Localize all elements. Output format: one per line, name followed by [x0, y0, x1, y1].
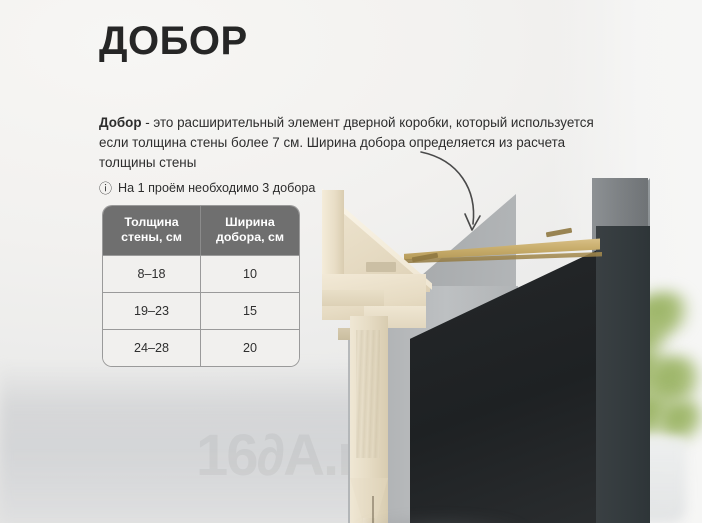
cell-thickness: 8–18: [103, 255, 201, 292]
table-head: Толщина стены, см Ширина добора, см: [103, 206, 299, 255]
cell-width: 10: [201, 255, 299, 292]
note-text: На 1 проём необходимо 3 добора: [118, 179, 315, 197]
dobor-groove-right: [546, 228, 572, 238]
door-casing-step-upper: [322, 290, 384, 306]
cell-thickness: 24–28: [103, 329, 201, 366]
description-paragraph: Добор - это расширительный элемент дверн…: [99, 113, 619, 173]
table-row: 24–28 20: [103, 329, 299, 366]
description-body: - это расширительный элемент дверной кор…: [99, 115, 594, 170]
cell-thickness: 19–23: [103, 292, 201, 329]
floor-shadow: [342, 510, 592, 523]
cell-width: 20: [201, 329, 299, 366]
wall-far-dark: [596, 226, 650, 523]
table-row: 19–23 15: [103, 292, 299, 329]
info-icon: ⓘ: [99, 182, 112, 195]
note-line: ⓘ На 1 проём необходимо 3 добора: [99, 179, 315, 197]
wall-thickness-table: Толщина стены, см Ширина добора, см 8–18…: [103, 206, 299, 366]
table-header-row: Толщина стены, см Ширина добора, см: [103, 206, 299, 255]
infographic-canvas: 16∂A.ru: [0, 0, 702, 523]
description-lead: Добор: [99, 115, 142, 130]
door-casing-notch: [366, 262, 396, 272]
table-header-width: Ширина добора, см: [201, 206, 299, 255]
table-row: 8–18 10: [103, 255, 299, 292]
page-title: ДОБОР: [99, 19, 248, 63]
cell-width: 15: [201, 292, 299, 329]
door-jamb-texture: [356, 330, 380, 458]
table-body: 8–18 10 19–23 15 24–28 20: [103, 255, 299, 366]
table-header-thickness: Толщина стены, см: [103, 206, 201, 255]
